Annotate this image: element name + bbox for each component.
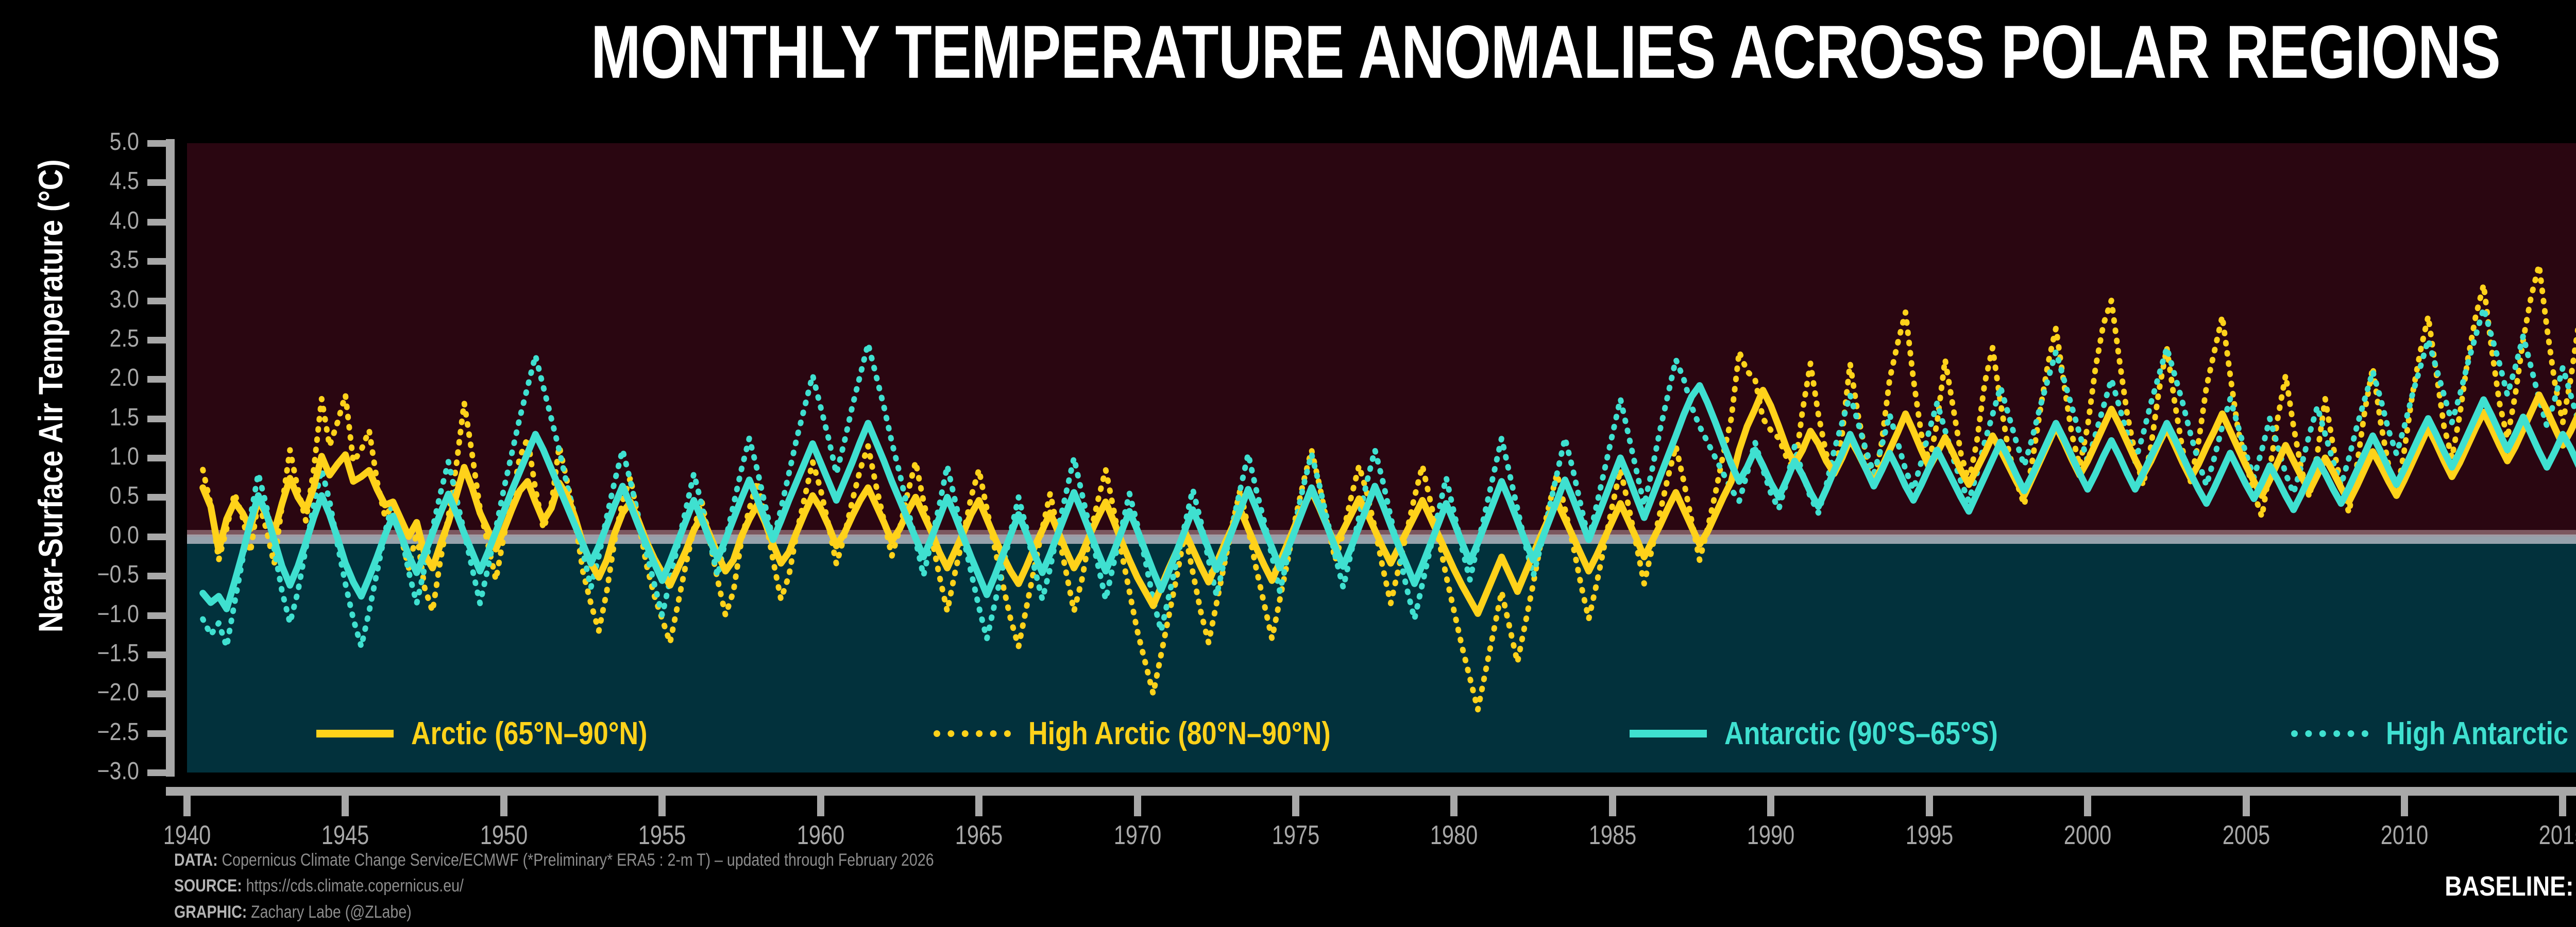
baseline-value: Relative to 1951-1980; 12-month running … bbox=[2574, 871, 2576, 902]
x-tick bbox=[1292, 796, 1299, 816]
credit-source-value[interactable]: https://cds.climate.copernicus.eu/ bbox=[242, 876, 464, 896]
plot-area bbox=[187, 143, 2576, 772]
x-tick-label: 2015 bbox=[2493, 820, 2576, 851]
legend-swatch-dotted bbox=[934, 730, 1011, 737]
credit-line-graphic: GRAPHIC: Zachary Labe (@ZLabe) bbox=[174, 899, 934, 925]
x-tick-label: 1945 bbox=[275, 820, 415, 851]
x-axis-spine bbox=[166, 787, 2576, 796]
y-tick-label: −0.5 bbox=[37, 560, 139, 589]
y-axis-spine-left bbox=[166, 139, 175, 777]
legend-swatch-solid bbox=[316, 730, 394, 737]
credit-data-value: Copernicus Climate Change Service/ECMWF … bbox=[218, 850, 934, 870]
credit-source-key: SOURCE: bbox=[174, 876, 242, 896]
y-tick-label: 1.0 bbox=[37, 442, 139, 471]
y-tick-left bbox=[147, 534, 166, 540]
y-tick-left bbox=[147, 730, 166, 737]
series-lines bbox=[187, 143, 2576, 772]
y-tick-label: 5.0 bbox=[37, 128, 139, 156]
series-path-high-high bbox=[203, 179, 2576, 710]
y-tick-left bbox=[147, 337, 166, 344]
y-tick-left bbox=[147, 455, 166, 461]
x-tick bbox=[1450, 796, 1458, 816]
y-tick-left bbox=[147, 573, 166, 579]
x-tick-label: 2000 bbox=[2018, 820, 2158, 851]
x-tick bbox=[817, 796, 824, 816]
page-title: MONTHLY TEMPERATURE ANOMALIES ACROSS POL… bbox=[309, 14, 2576, 90]
baseline-key: BASELINE: bbox=[2445, 871, 2574, 902]
x-tick-label: 1960 bbox=[751, 820, 891, 851]
x-tick-label: 2005 bbox=[2176, 820, 2316, 851]
legend-item-3[interactable]: High Antarctic (90°S–80°S) bbox=[2291, 715, 2576, 752]
x-tick-label: 1965 bbox=[909, 820, 1049, 851]
y-tick-label: 0.0 bbox=[37, 521, 139, 550]
credits-block: DATA: Copernicus Climate Change Service/… bbox=[174, 847, 934, 925]
legend-label: Antarctic (90°S–65°S) bbox=[1724, 715, 1998, 752]
series-path-antarctic bbox=[203, 371, 2576, 609]
y-tick-label: −3.0 bbox=[37, 757, 139, 785]
y-tick-label: 1.5 bbox=[37, 403, 139, 432]
credit-line-data: DATA: Copernicus Climate Change Service/… bbox=[174, 847, 934, 873]
y-tick-label: 4.0 bbox=[37, 207, 139, 235]
x-tick bbox=[2559, 796, 2566, 816]
credit-data-key: DATA: bbox=[174, 850, 218, 870]
y-tick-left bbox=[147, 612, 166, 619]
credit-graphic-value: Zachary Labe (@ZLabe) bbox=[247, 902, 412, 922]
x-tick bbox=[2084, 796, 2091, 816]
legend-item-2[interactable]: Antarctic (90°S–65°S) bbox=[1630, 715, 2050, 752]
y-tick-label: 3.5 bbox=[37, 246, 139, 274]
y-tick-left bbox=[147, 219, 166, 226]
legend-label: High Antarctic (90°S–80°S) bbox=[2386, 715, 2576, 752]
x-tick bbox=[1926, 796, 1933, 816]
x-tick bbox=[1609, 796, 1616, 816]
x-tick bbox=[183, 796, 191, 816]
legend-item-1[interactable]: High Arctic (80°N–90°N) bbox=[934, 715, 1388, 752]
credit-graphic-key: GRAPHIC: bbox=[174, 902, 247, 922]
baseline-note: BASELINE: Relative to 1951-1980; 12-mont… bbox=[2445, 870, 2576, 902]
x-tick bbox=[500, 796, 507, 816]
x-tick-label: 1955 bbox=[592, 820, 732, 851]
x-tick-label: 1970 bbox=[1067, 820, 1208, 851]
x-tick bbox=[1767, 796, 1774, 816]
y-tick-left bbox=[147, 651, 166, 658]
y-tick-label: −1.0 bbox=[37, 600, 139, 628]
y-tick-left bbox=[147, 769, 166, 776]
legend-swatch-solid bbox=[1630, 730, 1707, 737]
x-tick-label: 1950 bbox=[434, 820, 574, 851]
y-tick-label: −2.5 bbox=[37, 718, 139, 746]
legend: Arctic (65°N–90°N)High Arctic (80°N–90°N… bbox=[196, 705, 2576, 762]
y-tick-label: 0.5 bbox=[37, 482, 139, 510]
x-tick-label: 1940 bbox=[117, 820, 257, 851]
legend-swatch-dotted bbox=[2291, 730, 2368, 737]
y-tick-left bbox=[147, 494, 166, 501]
x-tick bbox=[2401, 796, 2408, 816]
y-tick-label: 2.0 bbox=[37, 364, 139, 392]
legend-label: Arctic (65°N–90°N) bbox=[411, 715, 647, 752]
y-tick-label: 3.0 bbox=[37, 285, 139, 314]
x-tick-label: 1985 bbox=[1543, 820, 1683, 851]
y-tick-left bbox=[147, 416, 166, 422]
x-tick-label: 1995 bbox=[1859, 820, 1999, 851]
x-tick bbox=[2243, 796, 2250, 816]
y-tick-left bbox=[147, 258, 166, 265]
x-tick bbox=[1134, 796, 1141, 816]
x-tick bbox=[658, 796, 666, 816]
y-tick-label: −1.5 bbox=[37, 639, 139, 667]
y-tick-left bbox=[147, 140, 166, 147]
y-tick-left bbox=[147, 298, 166, 304]
y-tick-label: 4.5 bbox=[37, 167, 139, 195]
x-tick-label: 1980 bbox=[1384, 820, 1524, 851]
x-tick-label: 1975 bbox=[1226, 820, 1366, 851]
x-tick-label: 2010 bbox=[2334, 820, 2475, 851]
chart-root: MONTHLY TEMPERATURE ANOMALIES ACROSS POL… bbox=[0, 0, 2576, 927]
legend-item-0[interactable]: Arctic (65°N–90°N) bbox=[316, 715, 692, 752]
y-tick-label: −2.0 bbox=[37, 678, 139, 707]
y-tick-label: 2.5 bbox=[37, 324, 139, 353]
legend-label: High Arctic (80°N–90°N) bbox=[1028, 715, 1331, 752]
x-tick-label: 1990 bbox=[1701, 820, 1841, 851]
y-tick-left bbox=[147, 376, 166, 383]
credit-line-source: SOURCE: https://cds.climate.copernicus.e… bbox=[174, 873, 934, 899]
x-tick bbox=[975, 796, 982, 816]
y-tick-left bbox=[147, 179, 166, 186]
y-tick-left bbox=[147, 691, 166, 697]
x-tick bbox=[342, 796, 349, 816]
